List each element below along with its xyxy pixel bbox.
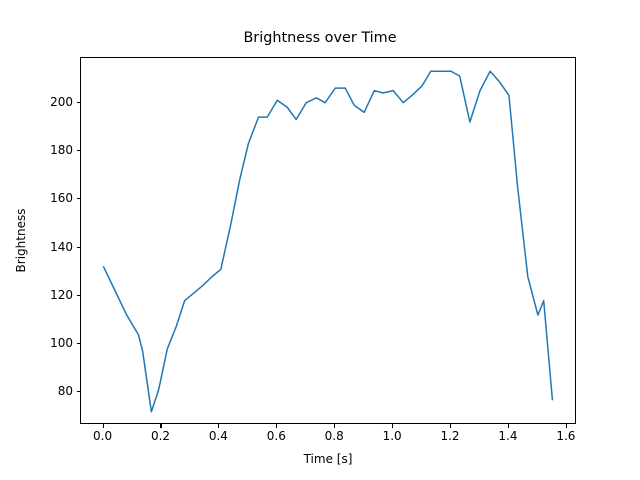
y-axis-label: Brightness [14, 57, 28, 424]
line-plot [81, 58, 577, 425]
x-tick-label: 0.2 [151, 429, 170, 443]
x-axis-label: Time [s] [80, 452, 576, 466]
y-tick-label: 100 [50, 336, 73, 350]
figure-canvas: Brightness over Time Brightness 80100120… [0, 0, 640, 480]
x-tick-label: 0.8 [325, 429, 344, 443]
y-tick-label: 180 [50, 143, 73, 157]
y-tick-label-group: 80100120140160180200 [30, 57, 73, 424]
x-tick-label: 0.6 [267, 429, 286, 443]
y-tick-label: 160 [50, 191, 73, 205]
x-tick-mark [160, 424, 161, 428]
x-tick-label: 1.2 [440, 429, 459, 443]
x-tick-label: 1.4 [498, 429, 517, 443]
y-tick-label: 80 [58, 384, 73, 398]
x-tick-mark [218, 424, 219, 428]
y-tick-label: 120 [50, 288, 73, 302]
plot-axes [80, 57, 576, 424]
x-tick-mark [450, 424, 451, 428]
x-tick-mark [334, 424, 335, 428]
x-tick-label: 1.0 [383, 429, 402, 443]
x-tick-label: 0.4 [209, 429, 228, 443]
x-tick-mark [508, 424, 509, 428]
y-tick-label: 200 [50, 95, 73, 109]
chart-title: Brightness over Time [0, 30, 640, 47]
brightness-series-line [104, 71, 553, 411]
x-tick-label: 0.0 [93, 429, 112, 443]
x-tick-mark [276, 424, 277, 428]
x-tick-label-group: 0.00.20.40.60.81.01.21.41.6 [80, 429, 576, 447]
x-tick-label: 1.6 [556, 429, 575, 443]
x-tick-mark [392, 424, 393, 428]
x-tick-mark [566, 424, 567, 428]
y-tick-label: 140 [50, 240, 73, 254]
x-tick-mark [103, 424, 104, 428]
